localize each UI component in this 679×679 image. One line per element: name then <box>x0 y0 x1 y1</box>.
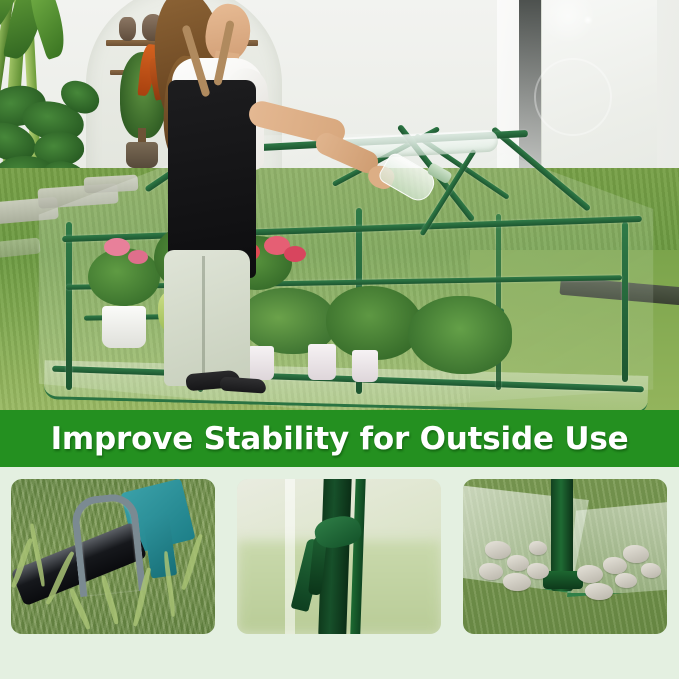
rock <box>623 545 649 563</box>
sandal <box>220 376 267 393</box>
mini-greenhouse <box>26 130 666 411</box>
feature-panels-section: Ground stakes to anchor the bottom of th… <box>0 467 679 679</box>
trousers <box>164 250 250 386</box>
pink-flower <box>104 238 130 256</box>
person-gardener <box>128 0 308 394</box>
rock <box>577 565 603 583</box>
rock <box>603 557 627 574</box>
broad-leaf-plant <box>326 286 422 360</box>
feature-image-heavy-objects <box>463 479 667 634</box>
hero-photo <box>0 0 679 411</box>
rock <box>529 541 547 555</box>
rock <box>507 555 529 571</box>
rock <box>479 563 503 580</box>
product-feature-image: Improve Stability for Outside Use <box>0 0 679 679</box>
feature-image-built-in-straps <box>237 479 441 634</box>
headline-text: Improve Stability for Outside Use <box>51 421 629 457</box>
ground-stake-icon <box>70 492 146 597</box>
rock <box>615 573 637 588</box>
rock <box>585 583 613 600</box>
rock <box>485 541 511 559</box>
plant-pot <box>308 344 336 380</box>
frame-post <box>66 222 72 390</box>
cover-seam <box>285 479 295 634</box>
rock <box>503 573 531 591</box>
black-apron <box>168 80 256 278</box>
rock <box>641 563 661 578</box>
broad-leaf-plant <box>408 296 512 374</box>
frame-post <box>622 222 628 382</box>
plant-pot <box>352 350 378 382</box>
trouser-crease <box>202 256 205 376</box>
headline-banner: Improve Stability for Outside Use <box>0 410 679 467</box>
feature-image-ground-stakes <box>11 479 215 634</box>
feature-panel-row <box>11 479 668 634</box>
rock <box>527 563 549 579</box>
